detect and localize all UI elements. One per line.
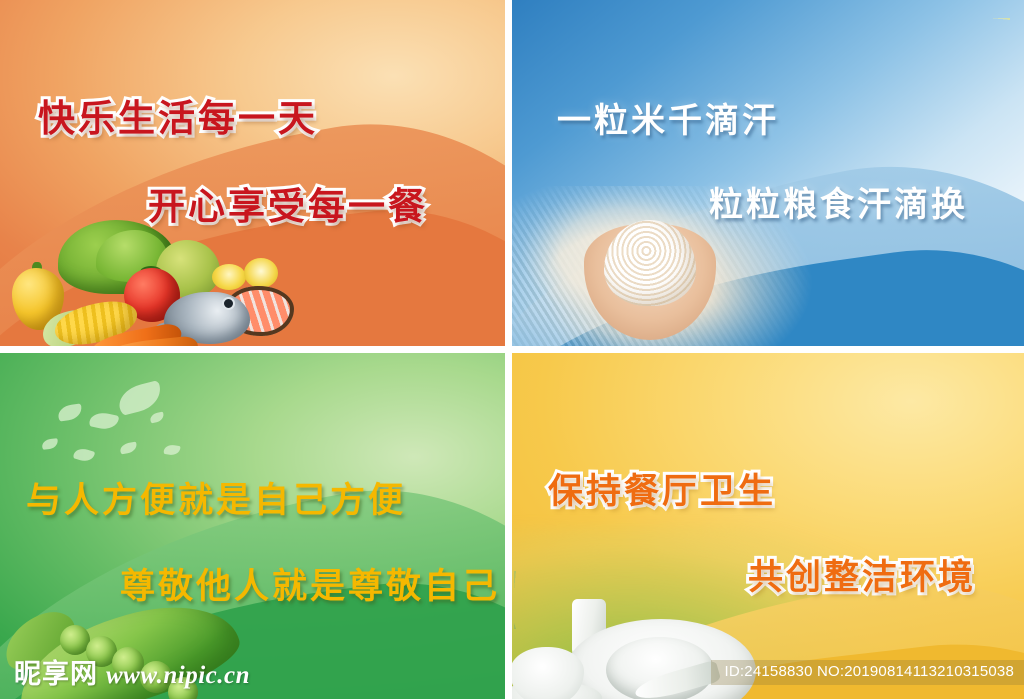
yellow-panel-headline-line1: 保持餐厅卫生 xyxy=(548,463,776,514)
poster-grid: 快乐生活每一天 开心享受每一餐 一粒米千滴汗 粒粒粮食汗滴换 xyxy=(0,0,1024,699)
lemon-half-icon xyxy=(212,264,246,290)
teacup-icon xyxy=(512,647,584,699)
bird-icon xyxy=(119,442,137,455)
image-id-label: ID:24158830 NO:20190814113210315038 xyxy=(725,663,1014,680)
watermark: 昵享网 www.nipic.cn xyxy=(14,652,250,691)
watermark-url-label: www.nipic.cn xyxy=(106,662,250,690)
bird-icon xyxy=(163,444,180,456)
panel-orange-healthy-eating xyxy=(0,0,505,346)
orange-panel-headline-line1: 快乐生活每一天 xyxy=(38,88,318,142)
orange-panel-headline-line2: 开心享受每一餐 xyxy=(148,176,428,230)
rice-stalk-icon xyxy=(892,18,1010,188)
bird-icon xyxy=(149,412,165,424)
vegetable-photo-cluster xyxy=(6,211,306,346)
lemon-slice-icon xyxy=(244,258,278,288)
yellow-panel-headline-line2: 共创整洁环境 xyxy=(748,549,976,600)
bird-icon xyxy=(42,438,59,450)
panel-blue-cherish-grain xyxy=(512,0,1024,346)
green-panel-headline-line2: 尊敬他人就是尊敬自己 xyxy=(120,558,500,609)
bird-icon xyxy=(73,446,96,463)
watermark-brand-label: 昵享网 xyxy=(14,652,98,691)
bird-icon xyxy=(89,410,120,431)
image-id-strip: ID:24158830 NO:20190814113210315038 xyxy=(711,660,1024,685)
blue-panel-headline-line2: 粒粒粮食汗滴换 xyxy=(709,177,968,226)
green-panel-headline-line1: 与人方便就是自己方便 xyxy=(26,472,406,523)
bird-flock-graphic xyxy=(40,379,220,479)
panel-green-respect-others xyxy=(0,353,505,699)
blue-panel-headline-line1: 一粒米千滴汗 xyxy=(557,93,779,142)
fish-eye-icon xyxy=(222,297,235,310)
panel-yellow-clean-canteen xyxy=(512,353,1024,699)
bird-icon xyxy=(116,380,165,416)
bird-icon xyxy=(57,403,83,421)
